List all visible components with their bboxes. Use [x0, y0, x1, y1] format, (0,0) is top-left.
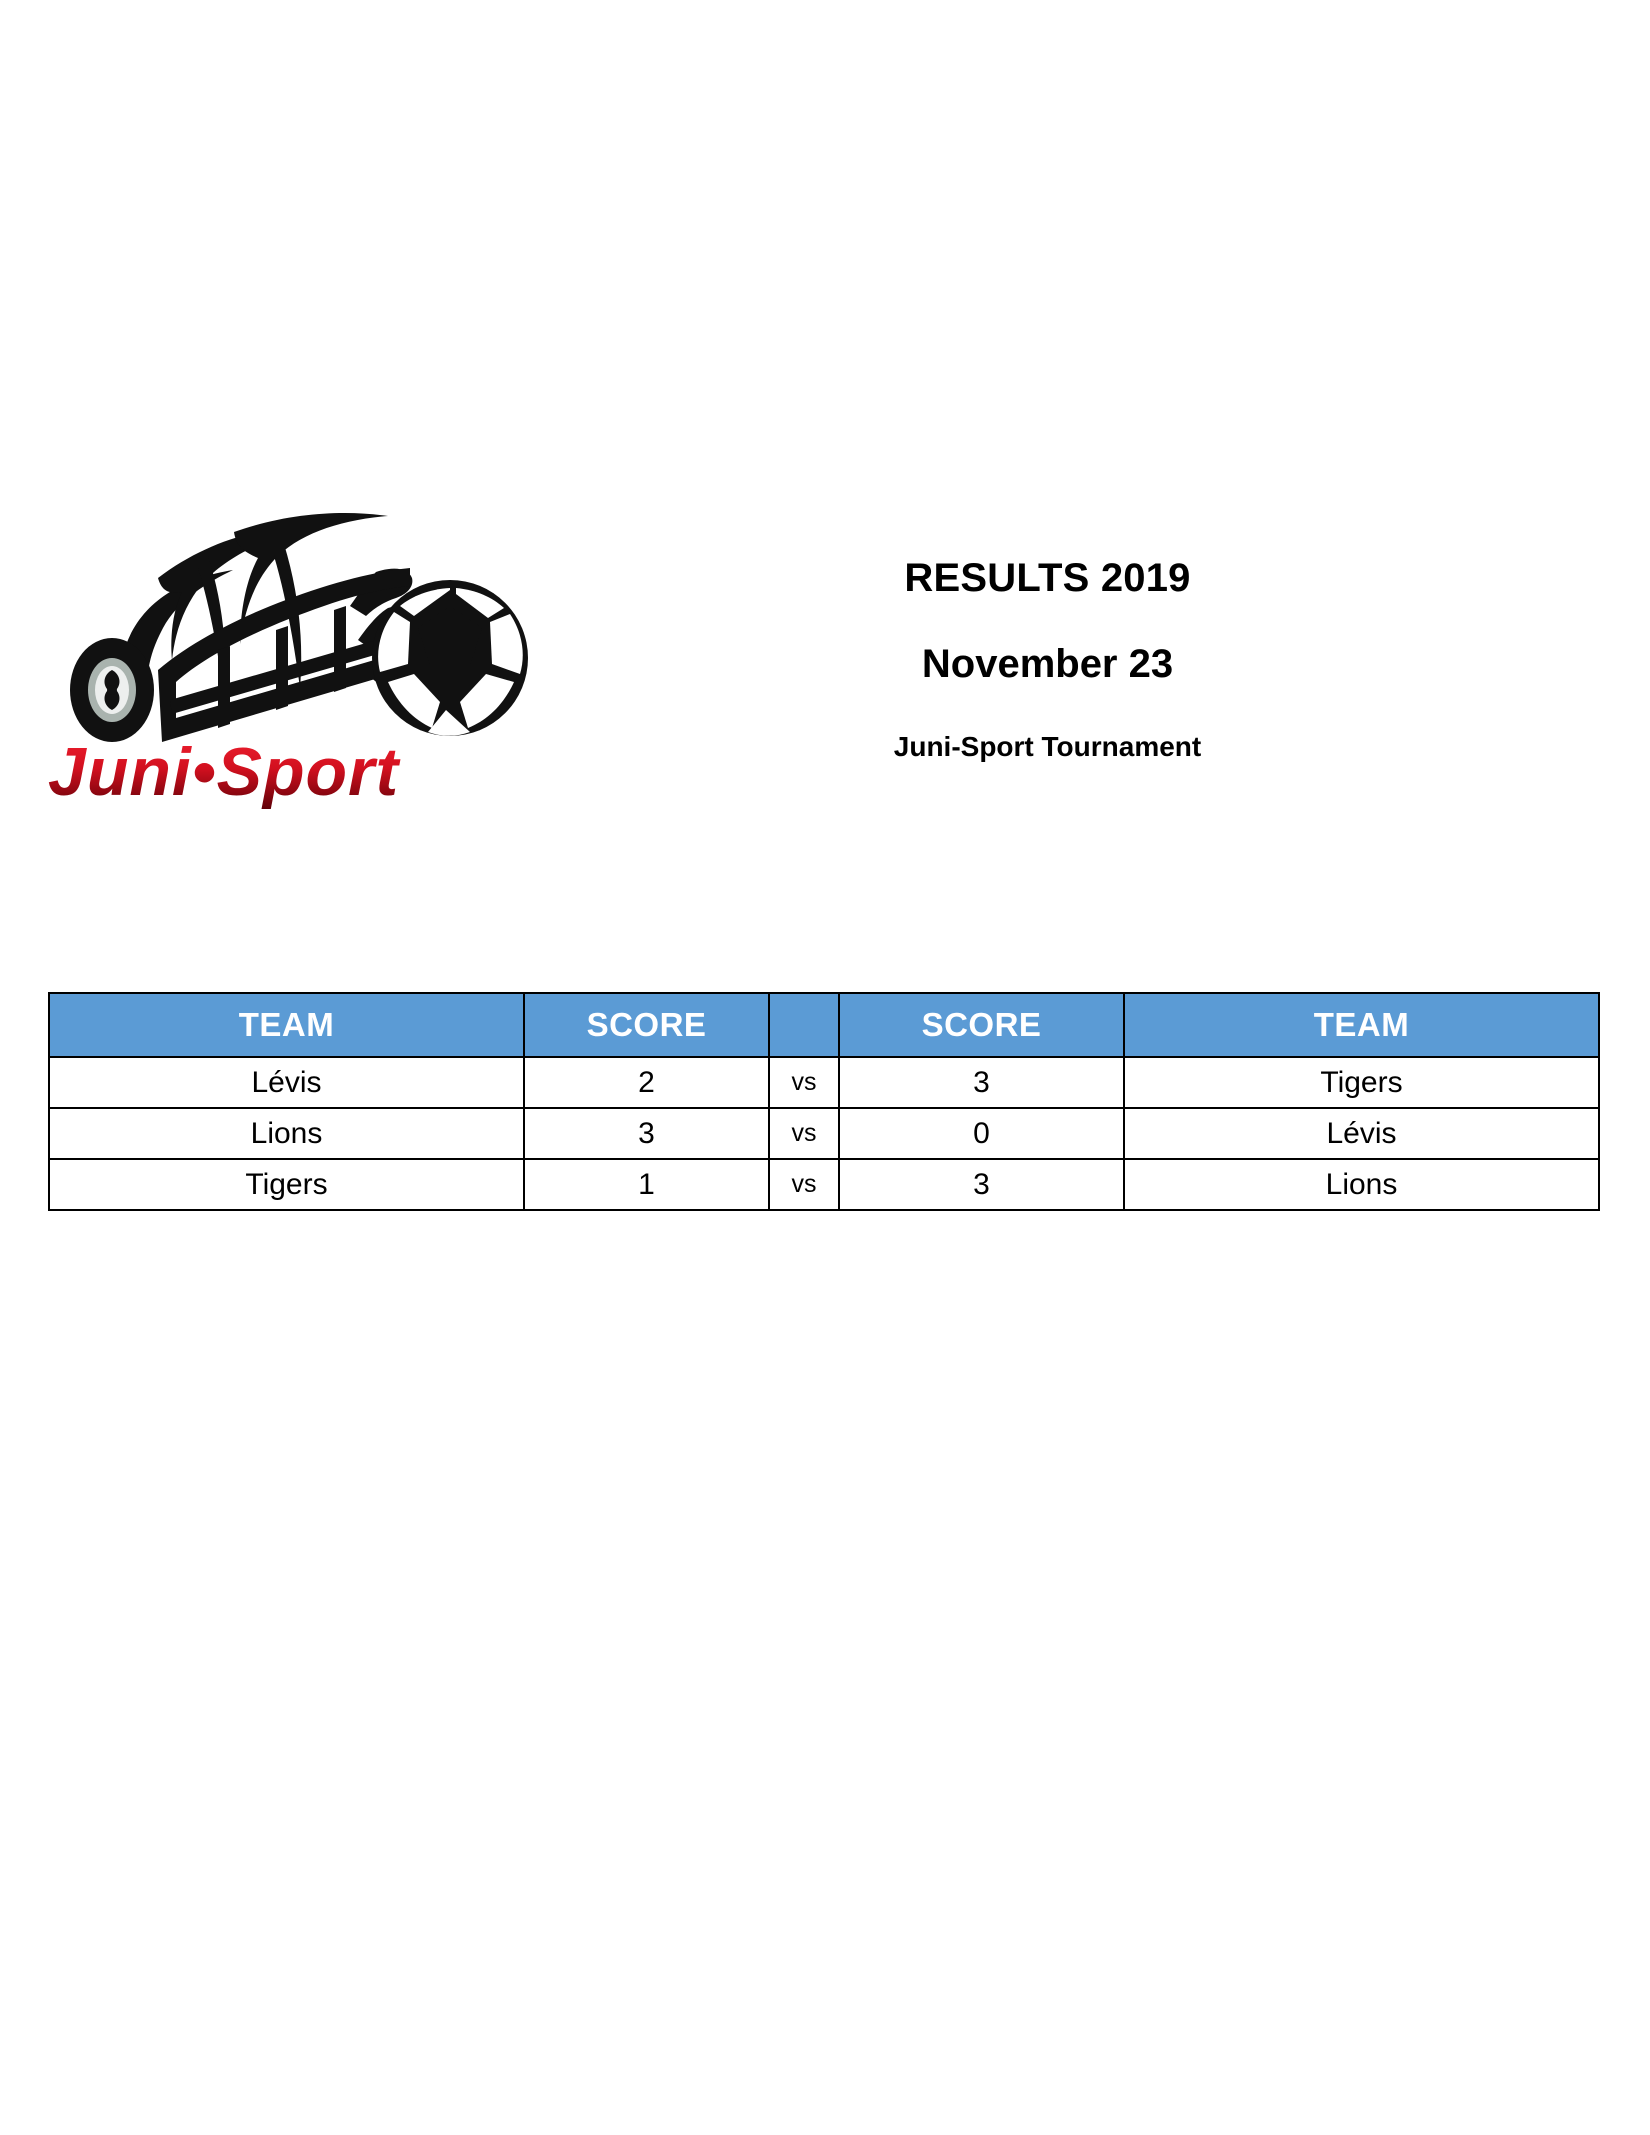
cell-home-team: Lions [49, 1108, 524, 1159]
cell-versus: vs [769, 1057, 839, 1108]
soccer-ball-icon [372, 580, 528, 736]
results-table-container: TEAM SCORE SCORE TEAM Lévis 2 vs 3 Tiger… [48, 992, 1598, 1211]
table-row: Lévis 2 vs 3 Tigers [49, 1057, 1599, 1108]
logo-graphic [58, 460, 528, 750]
cell-away-team: Lévis [1124, 1108, 1599, 1159]
table-row: Lions 3 vs 0 Lévis [49, 1108, 1599, 1159]
column-header-team-right: TEAM [1124, 993, 1599, 1057]
cell-away-score: 0 [839, 1108, 1124, 1159]
title-block: RESULTS 2019 November 23 Juni-Sport Tour… [760, 460, 1335, 763]
logo-wordmark: Juni•Sport [48, 733, 548, 815]
cell-home-score: 2 [524, 1057, 769, 1108]
document-page: Juni•Sport RESULTS 2019 November 23 Juni… [0, 0, 1650, 2135]
cell-home-score: 1 [524, 1159, 769, 1210]
page-title: RESULTS 2019 [760, 460, 1335, 600]
cell-away-score: 3 [839, 1159, 1124, 1210]
event-date: November 23 [760, 600, 1335, 686]
column-header-vs [769, 993, 839, 1057]
cell-versus: vs [769, 1108, 839, 1159]
cell-away-team: Lions [1124, 1159, 1599, 1210]
cell-home-team: Tigers [49, 1159, 524, 1210]
column-header-team-left: TEAM [49, 993, 524, 1057]
juni-sport-logo: Juni•Sport [48, 460, 588, 830]
table-header-row: TEAM SCORE SCORE TEAM [49, 993, 1599, 1057]
wheel-hub-icon [70, 638, 154, 742]
cell-home-score: 3 [524, 1108, 769, 1159]
cell-home-team: Lévis [49, 1057, 524, 1108]
table-row: Tigers 1 vs 3 Lions [49, 1159, 1599, 1210]
cell-away-score: 3 [839, 1057, 1124, 1108]
results-table-body: Lévis 2 vs 3 Tigers Lions 3 vs 0 Lévis T… [49, 1057, 1599, 1210]
column-header-score-left: SCORE [524, 993, 769, 1057]
logo-wordmark-text: Juni•Sport [48, 734, 400, 810]
cell-away-team: Tigers [1124, 1057, 1599, 1108]
document-header: Juni•Sport RESULTS 2019 November 23 Juni… [0, 460, 1650, 830]
results-table: TEAM SCORE SCORE TEAM Lévis 2 vs 3 Tiger… [48, 992, 1600, 1211]
cell-versus: vs [769, 1159, 839, 1210]
event-subtitle: Juni-Sport Tournament [760, 686, 1335, 763]
results-table-head: TEAM SCORE SCORE TEAM [49, 993, 1599, 1057]
column-header-score-right: SCORE [839, 993, 1124, 1057]
